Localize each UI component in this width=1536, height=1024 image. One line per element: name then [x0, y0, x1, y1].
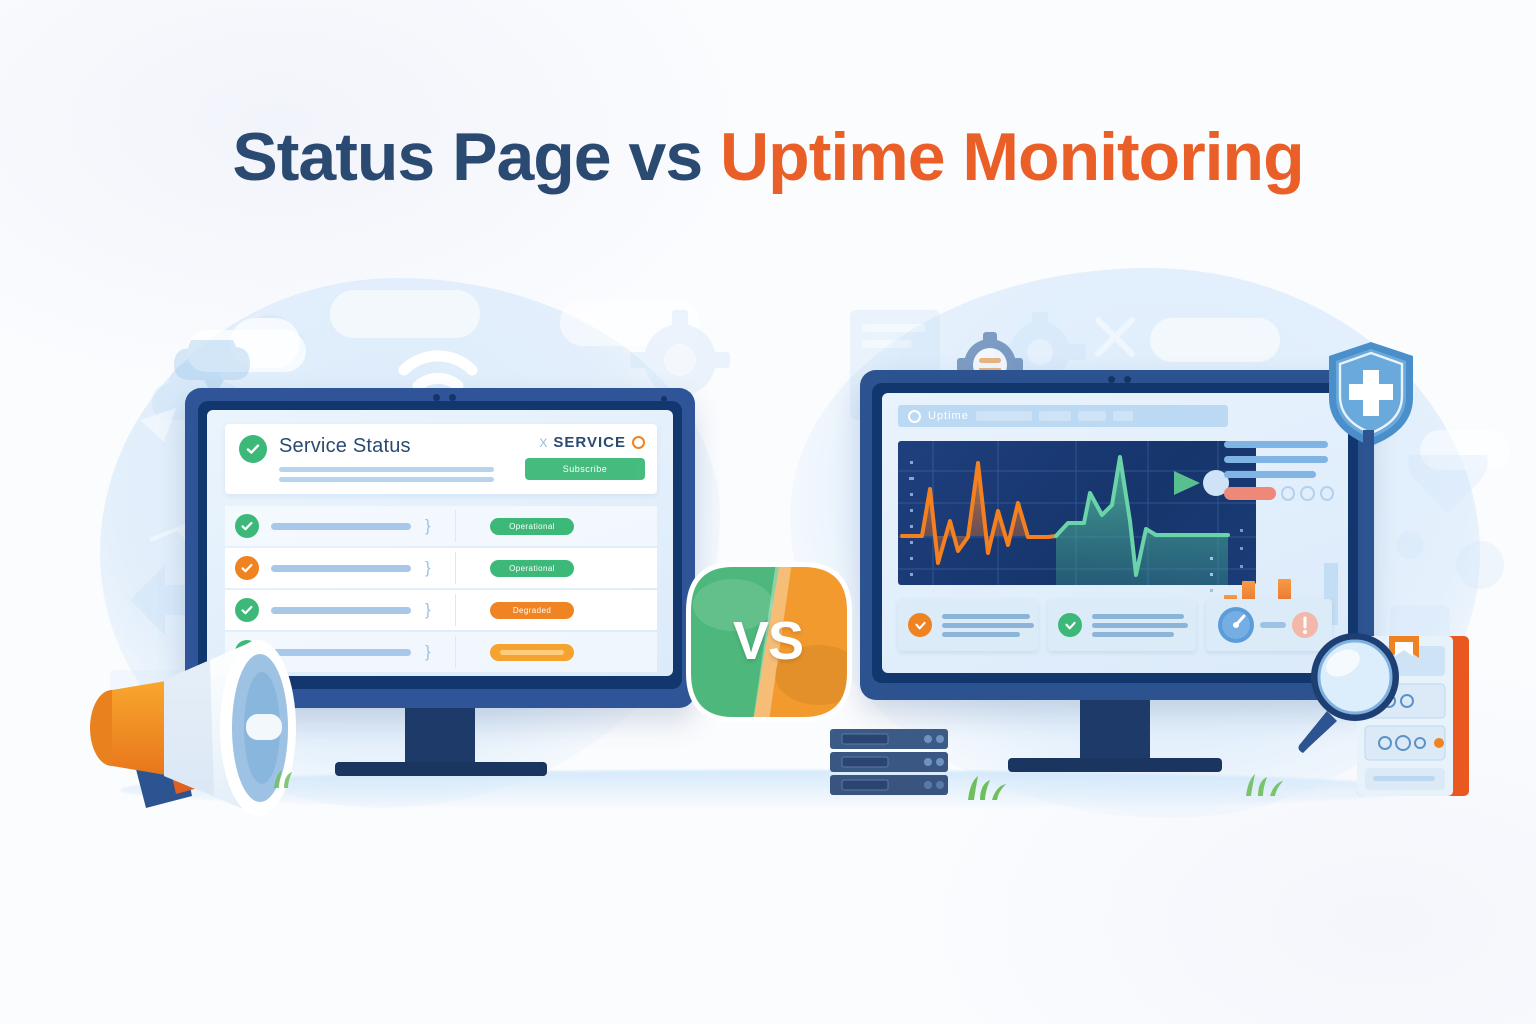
check-circle-green-icon — [239, 435, 267, 463]
check-circle-orange-icon — [908, 613, 932, 637]
vs-label: VS — [683, 610, 853, 672]
check-circle-green-icon — [1058, 613, 1082, 637]
status-badge: Degraded — [490, 602, 574, 619]
ring-icon — [1281, 486, 1295, 501]
alert-pill — [1224, 487, 1276, 500]
row-brace: } — [425, 558, 431, 578]
dashboard-title: Uptime — [928, 410, 969, 422]
vs-badge: VS — [683, 560, 853, 725]
table-row[interactable]: } Operational — [225, 548, 657, 588]
row-brace: } — [425, 600, 431, 620]
row-brace: } — [425, 516, 431, 536]
status-card[interactable] — [1048, 599, 1196, 651]
title-part-orange: Uptime Monitoring — [720, 119, 1304, 195]
dashboard-sidebar — [1224, 441, 1334, 501]
server-stack-icon — [828, 727, 968, 799]
gauge-icon — [1216, 605, 1256, 645]
megaphone-icon — [60, 618, 330, 818]
service-status-header-card: Service Status X SERVICE Subscribe — [225, 424, 657, 494]
status-ring-icon — [908, 410, 921, 423]
illustration-canvas: Service Status X SERVICE Subscribe — [0, 0, 1536, 1024]
brand-dot-icon — [632, 436, 645, 449]
play-triangle-marker — [1174, 471, 1200, 495]
brand-x-label: X — [539, 436, 547, 450]
status-card[interactable] — [898, 599, 1038, 651]
page-title: Status Page vs Uptime Monitoring — [0, 118, 1536, 196]
service-brand: X SERVICE — [539, 434, 645, 451]
cloud-decor — [1150, 318, 1280, 362]
status-badge: Operational — [490, 518, 574, 535]
left-monitor-neck — [405, 708, 475, 766]
grass-decor — [268, 762, 308, 788]
magnifying-glass-icon — [1293, 625, 1413, 755]
grass-decor — [960, 770, 1020, 800]
row-brace: } — [425, 642, 431, 662]
title-part-dark: Status Page vs — [232, 119, 720, 195]
status-badge — [490, 644, 574, 661]
subscribe-button[interactable]: Subscribe — [525, 458, 645, 480]
ring-icon — [1300, 486, 1314, 501]
status-badge: Operational — [490, 560, 574, 577]
check-circle-green-icon — [235, 514, 259, 538]
line-chart-svg — [898, 441, 1256, 585]
right-monitor-foot — [1008, 758, 1222, 772]
dashboard-topbar: Uptime — [898, 405, 1228, 427]
uptime-line-chart — [898, 441, 1256, 585]
grass-decor — [1240, 766, 1300, 796]
table-row[interactable]: } Operational — [225, 506, 657, 546]
ring-icon — [1320, 486, 1334, 501]
check-circle-orange-icon — [235, 556, 259, 580]
brand-name-label: SERVICE — [553, 434, 626, 451]
left-monitor-foot — [335, 762, 547, 776]
right-monitor-neck — [1080, 700, 1150, 762]
right-monitor-screen: Uptime — [882, 393, 1348, 673]
